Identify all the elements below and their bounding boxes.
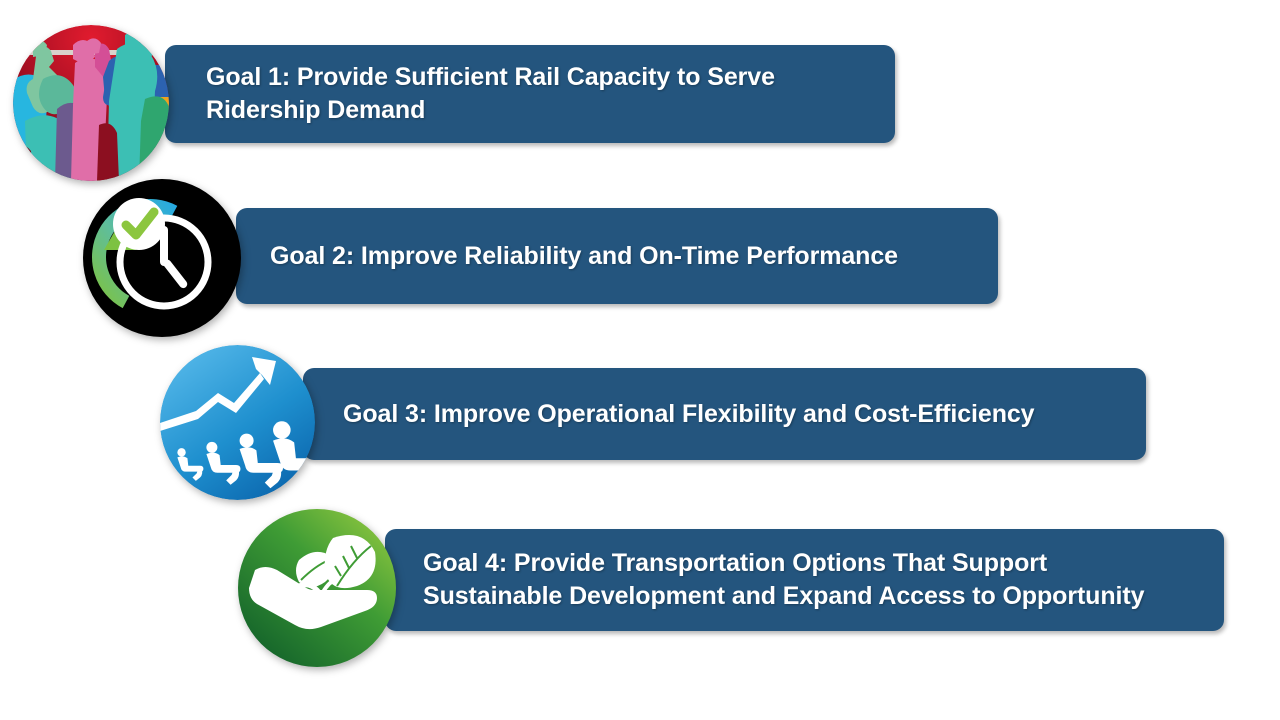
goals-slide: Goal 1: Provide Sufficient Rail Capacity… <box>0 0 1280 720</box>
clock-checkmark-icon <box>82 178 242 338</box>
goal-text-4: Goal 4: Provide Transportation Options T… <box>385 547 1144 613</box>
crowded-train-riders-icon <box>13 25 169 181</box>
goal-bar-2[interactable]: Goal 2: Improve Reliability and On-Time … <box>236 208 998 304</box>
goal-text-1: Goal 1: Provide Sufficient Rail Capacity… <box>165 61 775 127</box>
hand-holding-leaves-icon <box>237 508 397 668</box>
goal-bar-3[interactable]: Goal 3: Improve Operational Flexibility … <box>303 368 1146 460</box>
goal-bar-1[interactable]: Goal 1: Provide Sufficient Rail Capacity… <box>165 45 895 143</box>
seated-passengers-growth-arrow-icon <box>160 345 315 500</box>
goal-text-3: Goal 3: Improve Operational Flexibility … <box>303 398 1034 431</box>
goal-text-2: Goal 2: Improve Reliability and On-Time … <box>236 240 898 273</box>
goal-bar-4[interactable]: Goal 4: Provide Transportation Options T… <box>385 529 1224 631</box>
